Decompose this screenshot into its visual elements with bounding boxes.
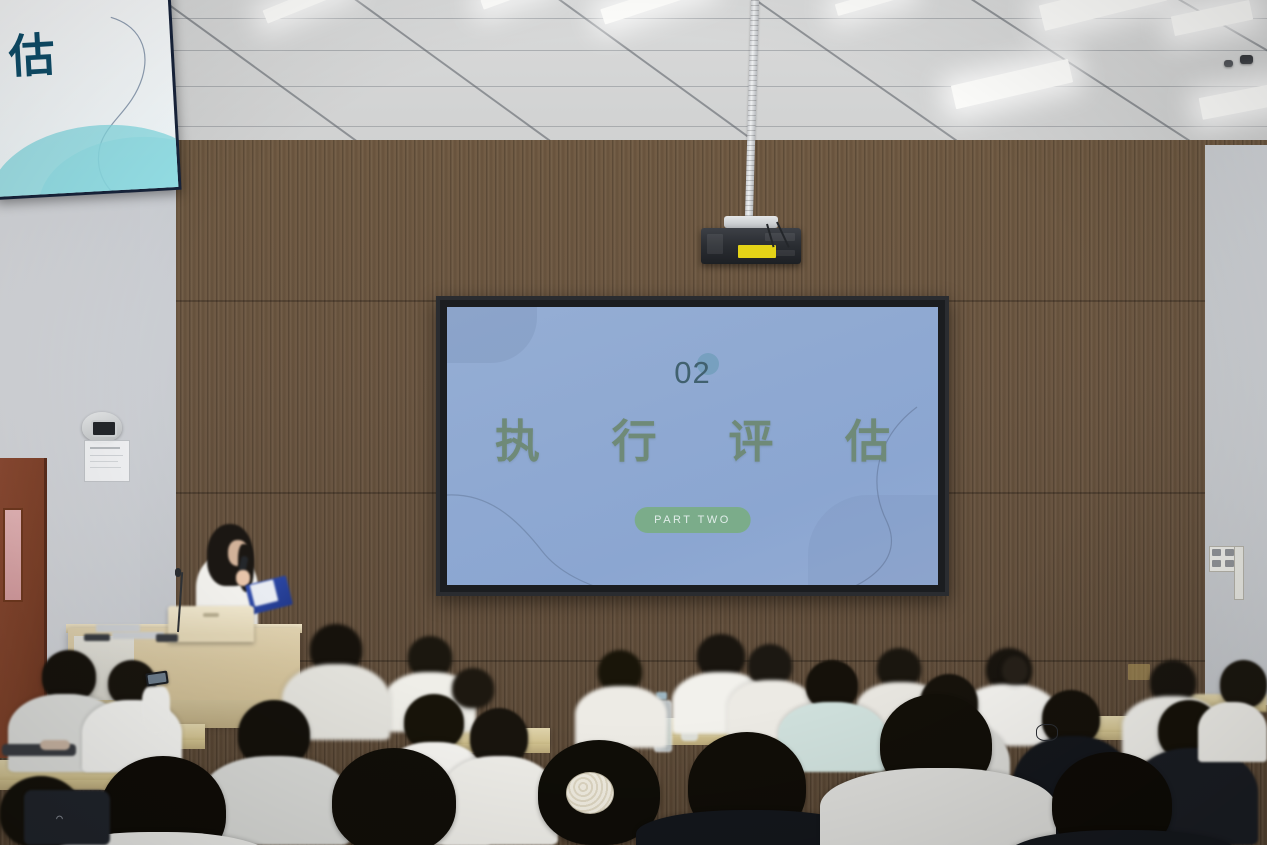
secondary-monitor-surface: 估 [0,0,178,197]
slide-title: 执 行 评 估 [447,405,938,470]
ceiling-sensor [1224,60,1233,67]
secondary-monitor[interactable]: 估 [0,0,182,200]
slide-part-badge: PART TWO [634,507,751,533]
microphone-head-icon [175,568,181,577]
switch-button[interactable] [1212,560,1221,567]
camera-lens-icon [91,420,117,437]
student-arm [142,686,170,734]
slide-number: 02 [447,355,938,391]
student-head [1002,656,1028,684]
laptop-logo [203,613,219,617]
student-head [1220,660,1267,708]
lecture-hall-scene: 02 执 行 评 估 PART TWO 估 [0,0,1267,845]
switch-button[interactable] [1225,560,1234,567]
door-glass-panel [3,508,23,602]
podium-papers [96,624,140,632]
desk-items [40,740,70,750]
projector-label [738,245,776,258]
student-shoulders [575,686,667,748]
student-head [332,748,456,845]
student-shoulders [820,768,1056,845]
student-head [452,668,494,708]
switch-button[interactable] [1225,549,1234,556]
slide-decor-shape [808,495,938,585]
student-shoulders [1198,702,1267,762]
podium-remote[interactable] [84,634,110,641]
switch-button[interactable] [1212,549,1221,556]
projector-bracket [724,216,778,228]
wall-plate [1128,664,1150,680]
eyeglasses [1036,724,1058,741]
wall-switch-strip[interactable] [1234,546,1244,600]
main-projection-screen[interactable]: 02 执 行 评 估 PART TWO [436,296,949,596]
presenter-laptop[interactable] [168,606,254,642]
right-wall [1205,145,1267,705]
backpack [24,790,110,845]
podium-device[interactable] [156,634,178,642]
camera-notice-sign [84,440,130,482]
backpack-logo: ◠ [56,814,63,823]
ceiling-sensor [1240,55,1253,64]
slide-surface: 02 执 行 评 估 PART TWO [447,307,938,585]
hair-scrunchie [566,772,614,814]
